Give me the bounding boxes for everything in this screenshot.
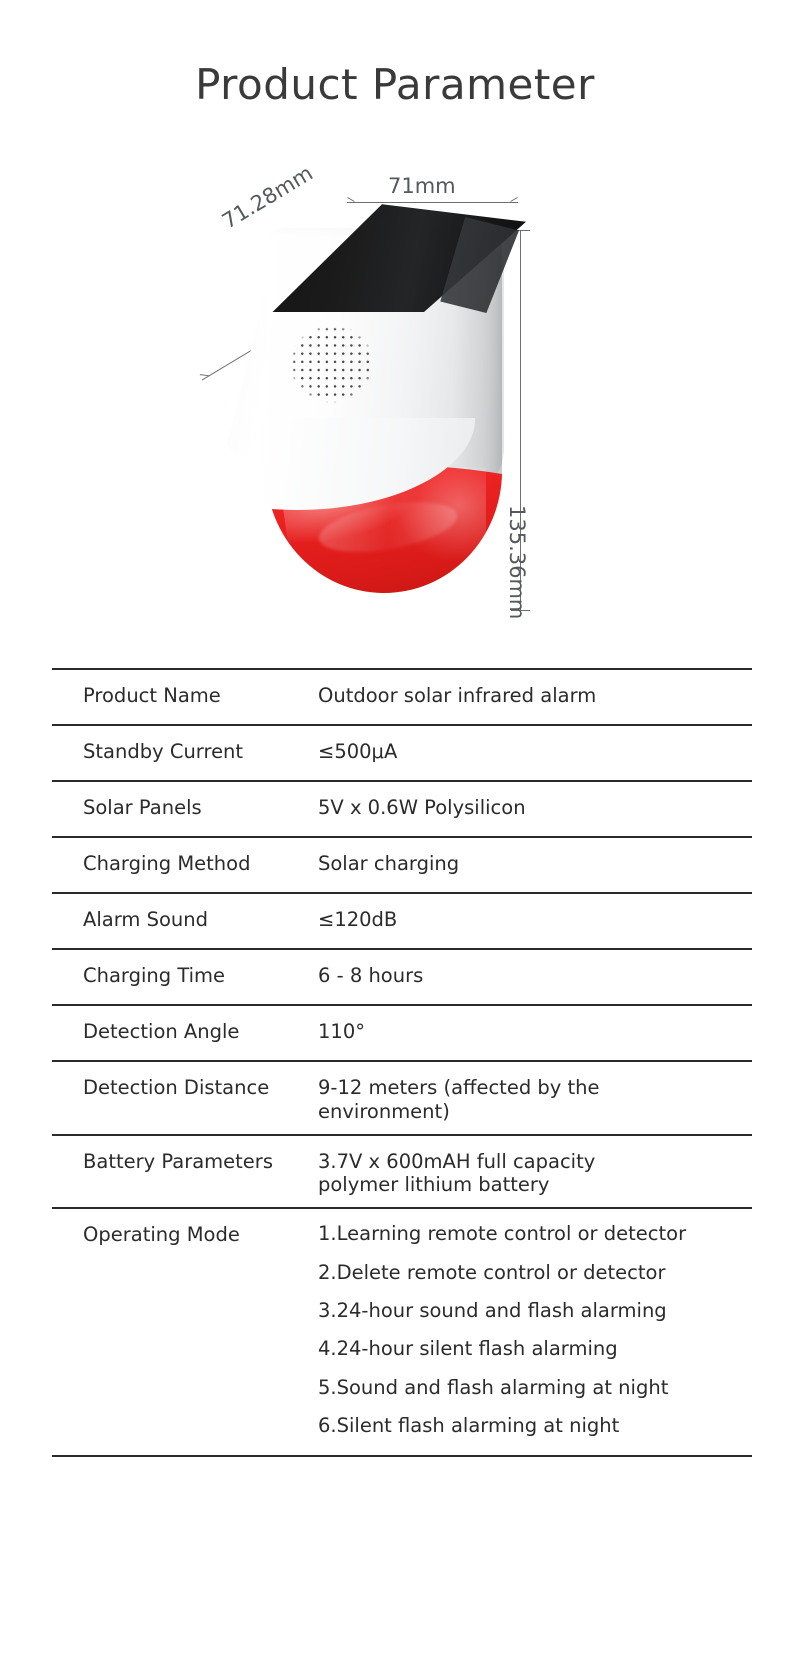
- list-item: 4.24-hour silent flash alarming: [318, 1338, 752, 1359]
- list-item: 3.24-hour sound and flash alarming: [318, 1300, 752, 1321]
- table-row: Charging Method Solar charging: [52, 836, 752, 892]
- spec-label: Battery Parameters: [52, 1150, 318, 1174]
- operating-mode-list: 1.Learning remote control or detector 2.…: [318, 1223, 752, 1437]
- spec-label: Detection Angle: [52, 1020, 318, 1044]
- table-row: Standby Current ≤500μA: [52, 724, 752, 780]
- spec-label: Charging Method: [52, 852, 318, 876]
- spec-label: Solar Panels: [52, 796, 318, 820]
- table-row-operating-mode: Operating Mode 1.Learning remote control…: [52, 1207, 752, 1457]
- list-item: 2.Delete remote control or detector: [318, 1262, 752, 1283]
- table-row: Charging Time 6 - 8 hours: [52, 948, 752, 1004]
- solar-alarm-device: [180, 190, 540, 640]
- spec-value: 5V x 0.6W Polysilicon: [318, 796, 752, 820]
- product-image: 71mm 71.28mm 135.36mm: [0, 150, 790, 650]
- spec-label: Standby Current: [52, 740, 318, 764]
- table-row: Detection Angle 110°: [52, 1004, 752, 1060]
- table-row: Alarm Sound ≤120dB: [52, 892, 752, 948]
- table-row: Battery Parameters 3.7V x 600mAH full ca…: [52, 1134, 752, 1208]
- spec-value: 6 - 8 hours: [318, 964, 752, 988]
- table-row: Detection Distance 9-12 meters (affected…: [52, 1060, 752, 1134]
- spec-label: Alarm Sound: [52, 908, 318, 932]
- table-row: Solar Panels 5V x 0.6W Polysilicon: [52, 780, 752, 836]
- list-item: 6.Silent flash alarming at night: [318, 1415, 752, 1436]
- table-row: Product Name Outdoor solar infrared alar…: [52, 668, 752, 724]
- spec-label: Operating Mode: [52, 1223, 318, 1247]
- spec-value: 3.7V x 600mAH full capacity polymer lith…: [318, 1150, 752, 1198]
- page-title: Product Parameter: [0, 60, 790, 109]
- speaker-grille-icon: [290, 325, 374, 403]
- spec-label: Charging Time: [52, 964, 318, 988]
- spec-table: Product Name Outdoor solar infrared alar…: [52, 668, 752, 1457]
- spec-value: ≤500μA: [318, 740, 752, 764]
- spec-value: 9-12 meters (affected by the environment…: [318, 1076, 752, 1124]
- spec-value: Outdoor solar infrared alarm: [318, 684, 752, 708]
- list-item: 1.Learning remote control or detector: [318, 1223, 752, 1244]
- list-item: 5.Sound and flash alarming at night: [318, 1377, 752, 1398]
- spec-value: 110°: [318, 1020, 752, 1044]
- spec-value: ≤120dB: [318, 908, 752, 932]
- spec-label: Detection Distance: [52, 1076, 318, 1100]
- spec-label: Product Name: [52, 684, 318, 708]
- spec-value: Solar charging: [318, 852, 752, 876]
